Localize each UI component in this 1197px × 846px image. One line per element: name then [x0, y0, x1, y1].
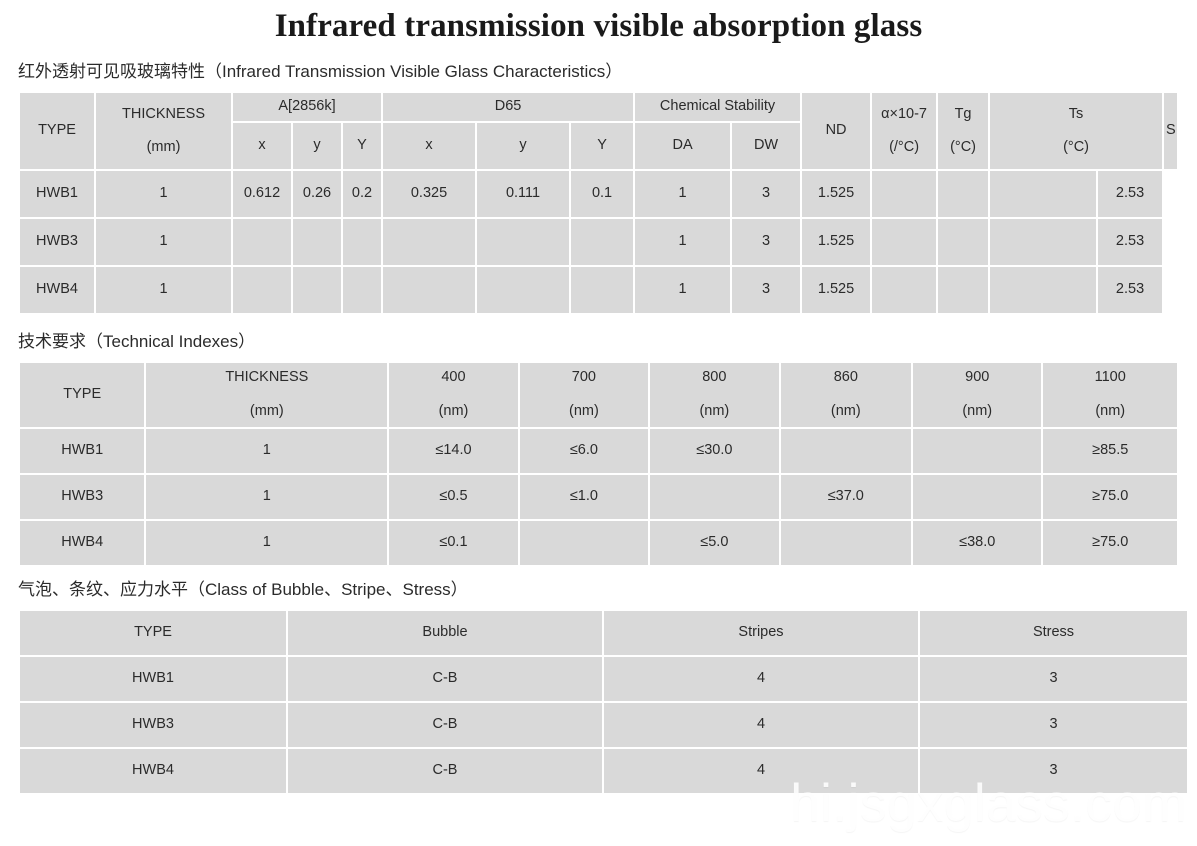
- header-row-top: TYPE THICKNESS (mm) A[2856k] D65 Chemica…: [20, 93, 1177, 121]
- cell-ts: [990, 171, 1096, 217]
- cell-nd: 1.525: [802, 267, 870, 313]
- header-wavelength-400: 400 (nm): [389, 363, 517, 427]
- cell-thickness: 1: [96, 171, 231, 217]
- cell-nd: 1.525: [802, 219, 870, 265]
- header-ts: Ts (°C): [990, 93, 1162, 169]
- cell-da: 1: [635, 171, 730, 217]
- cell-900: [913, 475, 1041, 519]
- header-wavelength-800: 800 (nm): [650, 363, 778, 427]
- cell-d-y: [477, 267, 569, 313]
- table-body: HWB1 C-B 4 3 HWB3 C-B 4 3 HWB4 C-B 4 3: [20, 657, 1187, 793]
- header-wavelength-700: 700 (nm): [520, 363, 648, 427]
- cell-tg: [938, 171, 988, 217]
- table-row: HWB1 C-B 4 3: [20, 657, 1187, 701]
- cell-d-capital-y: [571, 219, 633, 265]
- cell-da: 1: [635, 219, 730, 265]
- cell-type: HWB1: [20, 429, 144, 473]
- cell-thickness: 1: [96, 267, 231, 313]
- header-700-label: 700: [522, 368, 646, 388]
- cell-700: [520, 521, 648, 565]
- cell-bubble: C-B: [288, 703, 602, 747]
- header-alpha-label: α×10-7: [874, 105, 934, 125]
- cell-700: ≤1.0: [520, 475, 648, 519]
- cell-type: HWB1: [20, 657, 286, 701]
- cell-a-y: [293, 219, 341, 265]
- cell-thickness: 1: [96, 219, 231, 265]
- section1-caption: 红外透射可见吸玻璃特性（Infrared Transmission Visibl…: [18, 61, 1179, 83]
- cell-860: [781, 521, 911, 565]
- header-d-capital-y: Y: [571, 123, 633, 169]
- cell-type: HWB3: [20, 703, 286, 747]
- cell-a-x: [233, 219, 291, 265]
- cell-400: ≤14.0: [389, 429, 517, 473]
- header-chemical-stability: Chemical Stability: [635, 93, 800, 121]
- cell-tg: [938, 267, 988, 313]
- cell-a-x: [233, 267, 291, 313]
- cell-stress: 3: [920, 703, 1187, 747]
- header-ts-label: Ts: [992, 105, 1160, 125]
- header-thickness-unit: (mm): [98, 138, 229, 158]
- header-thickness-unit: (mm): [148, 402, 385, 422]
- cell-bubble: C-B: [288, 749, 602, 793]
- header-alpha-unit: (/°C): [874, 138, 934, 158]
- cell-da: 1: [635, 267, 730, 313]
- table-row: HWB4 C-B 4 3: [20, 749, 1187, 793]
- table-body: HWB1 1 ≤14.0 ≤6.0 ≤30.0 ≥85.5 HWB3 1 ≤0.…: [20, 429, 1177, 565]
- header-700-unit: (nm): [522, 402, 646, 422]
- header-type: TYPE: [20, 363, 144, 427]
- cell-d-capital-y: [571, 267, 633, 313]
- cell-thickness: 1: [146, 521, 387, 565]
- header-a2856k: A[2856k]: [233, 93, 381, 121]
- cell-thickness: 1: [146, 429, 387, 473]
- cell-type: HWB4: [20, 521, 144, 565]
- cell-860: [781, 429, 911, 473]
- header-860-unit: (nm): [783, 402, 909, 422]
- cell-s: 2.53: [1098, 171, 1162, 217]
- table-row: HWB1 1 0.612 0.26 0.2 0.325 0.111 0.1 1 …: [20, 171, 1177, 217]
- header-tg-unit: (°C): [940, 138, 986, 158]
- header-a-x: x: [233, 123, 291, 169]
- header-ts-unit: (°C): [992, 138, 1160, 158]
- header-wavelength-900: 900 (nm): [913, 363, 1041, 427]
- technical-indexes-table: TYPE THICKNESS (mm) 400 (nm) 700: [18, 361, 1179, 567]
- header-a-capital-y: Y: [343, 123, 381, 169]
- cell-type: HWB4: [20, 749, 286, 793]
- header-stress: Stress: [920, 611, 1187, 655]
- cell-900: [913, 429, 1041, 473]
- header-da: DA: [635, 123, 730, 169]
- cell-ts: [990, 267, 1096, 313]
- cell-nd: 1.525: [802, 171, 870, 217]
- cell-400: ≤0.1: [389, 521, 517, 565]
- header-1100-unit: (nm): [1045, 402, 1175, 422]
- table-row: HWB4 1 1 3 1.525 2.53: [20, 267, 1177, 313]
- cell-tg: [938, 219, 988, 265]
- cell-stripes: 4: [604, 749, 918, 793]
- header-type: TYPE: [20, 93, 94, 169]
- cell-s: 2.53: [1098, 219, 1162, 265]
- header-nd: ND: [802, 93, 870, 169]
- header-stripes: Stripes: [604, 611, 918, 655]
- header-wavelength-860: 860 (nm): [781, 363, 911, 427]
- header-row: TYPE Bubble Stripes Stress: [20, 611, 1187, 655]
- header-d65: D65: [383, 93, 633, 121]
- cell-1100: ≥75.0: [1043, 521, 1177, 565]
- table-row: HWB4 1 ≤0.1 ≤5.0 ≤38.0 ≥75.0: [20, 521, 1177, 565]
- cell-d-capital-y: 0.1: [571, 171, 633, 217]
- header-d-y: y: [477, 123, 569, 169]
- table-header: TYPE THICKNESS (mm) A[2856k] D65 Chemica…: [20, 93, 1177, 169]
- cell-d-x: [383, 267, 475, 313]
- cell-thickness: 1: [146, 475, 387, 519]
- header-1100-label: 1100: [1045, 368, 1175, 388]
- cell-700: ≤6.0: [520, 429, 648, 473]
- cell-stripes: 4: [604, 703, 918, 747]
- header-tg: Tg (°C): [938, 93, 988, 169]
- cell-stress: 3: [920, 749, 1187, 793]
- header-900-unit: (nm): [915, 402, 1039, 422]
- header-wavelength-1100: 1100 (nm): [1043, 363, 1177, 427]
- page-title: Infrared transmission visible absorption…: [18, 0, 1179, 49]
- header-thickness: THICKNESS (mm): [96, 93, 231, 169]
- section2-caption: 技术要求（Technical Indexes）: [18, 331, 1179, 353]
- header-800-label: 800: [652, 368, 776, 388]
- table-row: HWB1 1 ≤14.0 ≤6.0 ≤30.0 ≥85.5: [20, 429, 1177, 473]
- header-400-label: 400: [391, 368, 515, 388]
- characteristics-table: TYPE THICKNESS (mm) A[2856k] D65 Chemica…: [18, 91, 1179, 315]
- cell-type: HWB4: [20, 267, 94, 313]
- cell-860: ≤37.0: [781, 475, 911, 519]
- header-thickness: THICKNESS (mm): [146, 363, 387, 427]
- header-900-label: 900: [915, 368, 1039, 388]
- cell-stripes: 4: [604, 657, 918, 701]
- header-dw: DW: [732, 123, 800, 169]
- cell-a-y: [293, 267, 341, 313]
- cell-400: ≤0.5: [389, 475, 517, 519]
- header-thickness-label: THICKNESS: [148, 368, 385, 388]
- header-type: TYPE: [20, 611, 286, 655]
- table-row: HWB3 1 ≤0.5 ≤1.0 ≤37.0 ≥75.0: [20, 475, 1177, 519]
- cell-alpha: [872, 267, 936, 313]
- cell-800: [650, 475, 778, 519]
- header-d-x: x: [383, 123, 475, 169]
- document-page: Infrared transmission visible absorption…: [0, 0, 1197, 846]
- cell-bubble: C-B: [288, 657, 602, 701]
- header-thickness-label: THICKNESS: [98, 105, 229, 125]
- header-800-unit: (nm): [652, 402, 776, 422]
- bubble-stripe-stress-table: TYPE Bubble Stripes Stress HWB1 C-B 4 3 …: [18, 609, 1189, 795]
- cell-dw: 3: [732, 219, 800, 265]
- table-row: HWB3 1 1 3 1.525 2.53: [20, 219, 1177, 265]
- cell-a-capital-y: 0.2: [343, 171, 381, 217]
- cell-stress: 3: [920, 657, 1187, 701]
- table-body: HWB1 1 0.612 0.26 0.2 0.325 0.111 0.1 1 …: [20, 171, 1177, 313]
- header-a-y: y: [293, 123, 341, 169]
- cell-alpha: [872, 171, 936, 217]
- header-s: S: [1164, 93, 1177, 169]
- cell-d-x: [383, 219, 475, 265]
- cell-s: 2.53: [1098, 267, 1162, 313]
- header-860-label: 860: [783, 368, 909, 388]
- cell-800: ≤5.0: [650, 521, 778, 565]
- header-tg-label: Tg: [940, 105, 986, 125]
- cell-a-capital-y: [343, 267, 381, 313]
- cell-a-y: 0.26: [293, 171, 341, 217]
- cell-900: ≤38.0: [913, 521, 1041, 565]
- cell-alpha: [872, 219, 936, 265]
- cell-dw: 3: [732, 267, 800, 313]
- cell-dw: 3: [732, 171, 800, 217]
- header-alpha: α×10-7 (/°C): [872, 93, 936, 169]
- cell-d-x: 0.325: [383, 171, 475, 217]
- section3-caption: 气泡、条纹、应力水平（Class of Bubble、Stripe、Stress…: [18, 579, 1179, 601]
- cell-a-capital-y: [343, 219, 381, 265]
- cell-1100: ≥75.0: [1043, 475, 1177, 519]
- cell-800: ≤30.0: [650, 429, 778, 473]
- cell-a-x: 0.612: [233, 171, 291, 217]
- header-400-unit: (nm): [391, 402, 515, 422]
- cell-type: HWB3: [20, 475, 144, 519]
- header-row: TYPE THICKNESS (mm) 400 (nm) 700: [20, 363, 1177, 427]
- cell-ts: [990, 219, 1096, 265]
- table-header: TYPE Bubble Stripes Stress: [20, 611, 1187, 655]
- header-bubble: Bubble: [288, 611, 602, 655]
- table-row: HWB3 C-B 4 3: [20, 703, 1187, 747]
- cell-type: HWB3: [20, 219, 94, 265]
- cell-type: HWB1: [20, 171, 94, 217]
- cell-d-y: [477, 219, 569, 265]
- table-header: TYPE THICKNESS (mm) 400 (nm) 700: [20, 363, 1177, 427]
- cell-1100: ≥85.5: [1043, 429, 1177, 473]
- cell-d-y: 0.111: [477, 171, 569, 217]
